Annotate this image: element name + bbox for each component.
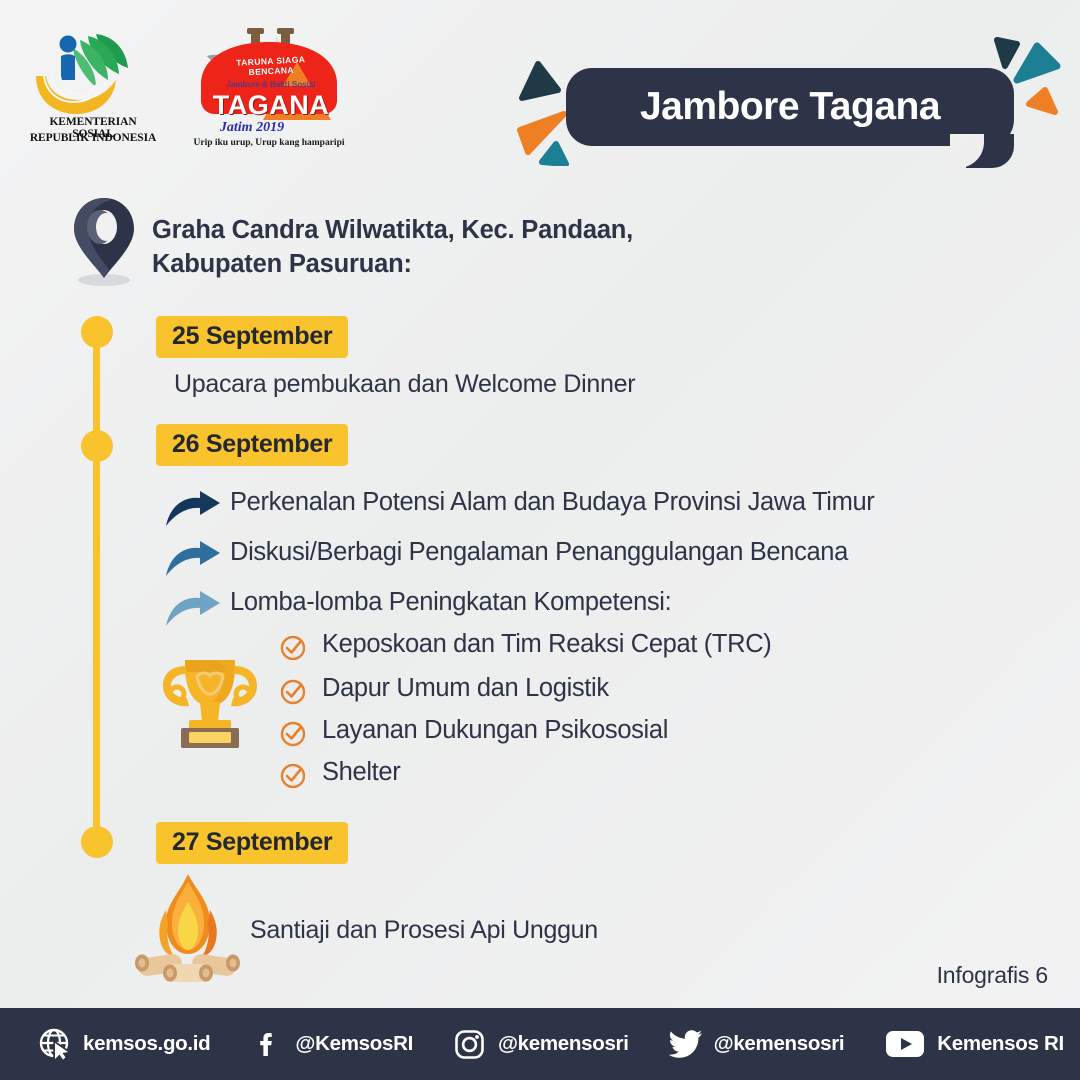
footer-item-instagram[interactable]: @kemensosri bbox=[453, 1027, 629, 1061]
footer-item-youtube[interactable]: Kemensos RI bbox=[884, 1027, 1064, 1061]
footer-item-facebook[interactable]: @KemsosRI bbox=[250, 1027, 413, 1061]
tagana-main-text: TAGANA bbox=[201, 90, 341, 121]
tagana-year-text: Jatim 2019 bbox=[197, 120, 307, 136]
check-circle-icon bbox=[280, 679, 306, 705]
trophy-icon bbox=[155, 648, 265, 758]
arrow-label-1: Perkenalan Potensi Alam dan Budaya Provi… bbox=[230, 488, 874, 517]
trophy-glyph bbox=[155, 648, 265, 758]
check-circle-icon bbox=[280, 721, 306, 747]
tagana-logo: TARUNA SIAGA BENCANA Jambore & Bakti Sos… bbox=[185, 28, 353, 154]
arrow-label-2: Diskusi/Berbagi Pengalaman Penanggulanga… bbox=[230, 538, 848, 567]
event-text-italic: Welcome Dinner bbox=[455, 370, 635, 398]
curved-arrow-icon bbox=[164, 490, 222, 528]
youtube-glyph bbox=[885, 1030, 925, 1058]
page-label: Infografis 6 bbox=[937, 962, 1048, 989]
check-circle-icon bbox=[280, 635, 306, 661]
location-line1: Graha Candra Wilwatikta, Kec. Pandaan, bbox=[152, 216, 633, 244]
map-pin-glyph bbox=[62, 192, 146, 288]
location-text: Graha Candra Wilwatikta, Kec. Pandaan, K… bbox=[152, 214, 852, 282]
checklist-label-4: Shelter bbox=[322, 758, 400, 787]
check-circle-icon bbox=[280, 763, 306, 789]
facebook-icon bbox=[250, 1027, 284, 1061]
kemensos-logo-mark bbox=[28, 28, 158, 116]
kemensos-logo-line2: REPUBLIK INDONESIA bbox=[28, 132, 158, 144]
globe-cursor-glyph bbox=[39, 1028, 71, 1060]
event-text-plain: Upacara pembukaan dan bbox=[174, 370, 455, 398]
footer-label-instagram: @kemensosri bbox=[498, 1032, 629, 1056]
infographic-canvas: KEMENTERIAN SOSIAL REPUBLIK INDONESIA bbox=[0, 0, 1080, 1080]
checklist-label-2: Dapur Umum dan Logistik bbox=[322, 674, 609, 703]
footer-social-bar: kemsos.go.id @KemsosRI @kemensosri bbox=[0, 1008, 1080, 1080]
timeline-dot-3 bbox=[81, 826, 113, 858]
twitter-icon bbox=[669, 1027, 703, 1061]
instagram-icon bbox=[453, 1027, 487, 1061]
map-pin-icon bbox=[62, 192, 146, 288]
timeline-rail bbox=[93, 330, 100, 850]
event-27-september-1: Santiaji dan Prosesi Api Unggun bbox=[250, 916, 598, 945]
kementerian-sosial-logo: KEMENTERIAN SOSIAL REPUBLIK INDONESIA bbox=[28, 28, 158, 148]
checklist-label-1: Keposkoan dan Tim Reaksi Cepat (TRC) bbox=[322, 630, 771, 659]
date-chip-26-september: 26 September bbox=[156, 424, 348, 466]
footer-label-website: kemsos.go.id bbox=[83, 1032, 210, 1056]
title-bubble: Jambore Tagana bbox=[566, 68, 1014, 146]
campfire-icon bbox=[126, 868, 250, 990]
youtube-icon bbox=[884, 1027, 926, 1061]
footer-label-youtube: Kemensos RI bbox=[937, 1032, 1064, 1056]
page-title: Jambore Tagana bbox=[566, 68, 1014, 146]
tagana-tagline: Urip iku urup, Urup kang hamparipi bbox=[185, 138, 353, 148]
location-line2: Kabupaten Pasuruan: bbox=[152, 250, 412, 278]
curved-arrow-icon bbox=[164, 540, 222, 578]
arrow-label-3: Lomba-lomba Peningkatan Kompetensi: bbox=[230, 588, 671, 617]
footer-item-website[interactable]: kemsos.go.id bbox=[38, 1027, 210, 1061]
globe-cursor-icon bbox=[38, 1027, 72, 1061]
date-chip-25-september: 25 September bbox=[156, 316, 348, 358]
curved-arrow-icon bbox=[164, 590, 222, 628]
timeline-dot-1 bbox=[81, 316, 113, 348]
facebook-glyph bbox=[252, 1029, 282, 1059]
event-25-september-1: Upacara pembukaan dan Welcome Dinner bbox=[174, 370, 635, 399]
footer-label-facebook: @KemsosRI bbox=[295, 1032, 413, 1056]
timeline-dot-2 bbox=[81, 430, 113, 462]
footer-label-twitter: @kemensosri bbox=[714, 1032, 845, 1056]
instagram-glyph bbox=[454, 1029, 485, 1060]
date-chip-27-september: 27 September bbox=[156, 822, 348, 864]
footer-item-twitter[interactable]: @kemensosri bbox=[669, 1027, 845, 1061]
event-text-plain: Santiaji dan Prosesi Api Unggun bbox=[250, 916, 598, 944]
twitter-bird-glyph bbox=[669, 1029, 703, 1059]
campfire-glyph bbox=[126, 868, 250, 990]
checklist-label-3: Layanan Dukungan Psikososial bbox=[322, 716, 668, 745]
tagana-sub-text: Jambore & Bakti Sosial bbox=[219, 80, 323, 89]
